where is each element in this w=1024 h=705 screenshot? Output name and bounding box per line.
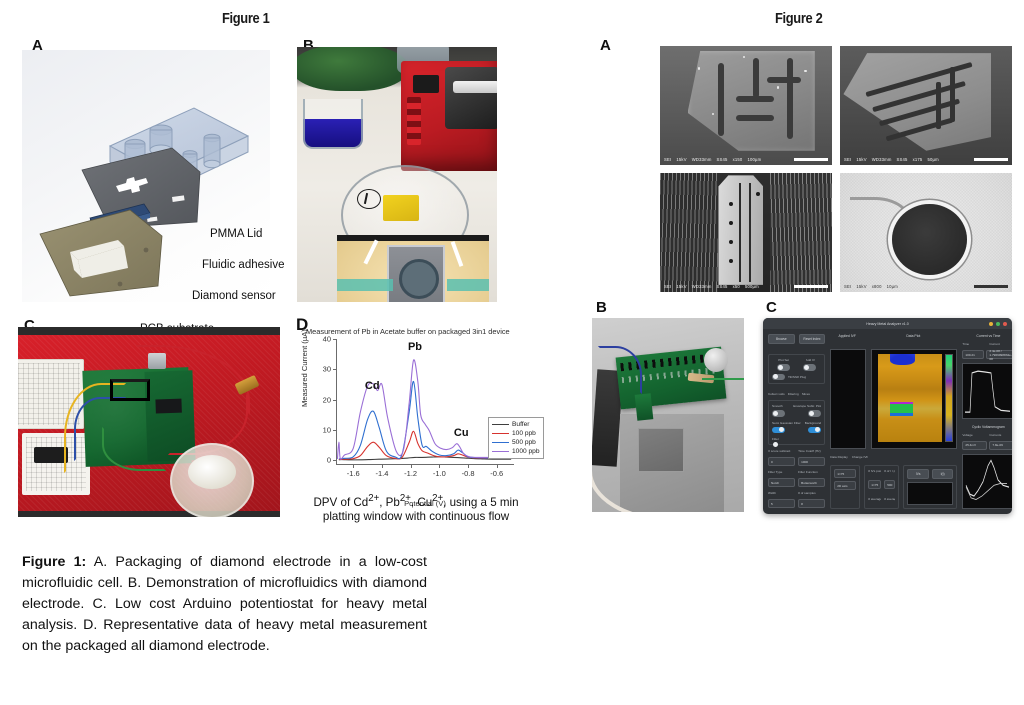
- field-samples[interactable]: 8: [798, 499, 825, 508]
- chart-plot-area: 010203040 -1.6-1.4-1.2-1.0-0.8-0.6 Poten…: [336, 339, 514, 465]
- readout-label-time: Time: [962, 342, 987, 346]
- heatmap-colorbar: [945, 354, 953, 442]
- axis-2d-button[interactable]: 2D axis: [834, 481, 856, 490]
- sem2-scale: 50µm: [927, 157, 938, 162]
- data-heatmap-plot[interactable]: [871, 349, 957, 449]
- fig2-panel-c-letter: C: [766, 300, 777, 315]
- sem2-trace: [936, 82, 941, 130]
- heatmap-blue-region: [890, 354, 916, 365]
- readout-voltage: 25.4mV: [962, 441, 987, 450]
- close-dot-icon[interactable]: [1003, 322, 1007, 326]
- chart-legend: Buffer100 ppb500 ppb1000 ppb: [488, 417, 544, 459]
- sem1-voltage: 15kV: [676, 157, 686, 162]
- toggle-label-smooth: Smooth: [772, 404, 783, 408]
- sem4-scale-bar: [974, 285, 1008, 288]
- readout-label-currents: Currents: [989, 433, 1012, 437]
- filter-label-row-1: Smooth Envelope Subtr. Plot: [772, 404, 821, 408]
- filtertype-field-row: Notch Butterworth: [768, 478, 825, 487]
- chart-xtick-label: -1.4: [375, 469, 388, 478]
- field-label-x-score: X score subtract: [768, 449, 795, 453]
- fig1-panel-b-microfluidics-photo: [297, 47, 497, 302]
- toggle-add-iv[interactable]: [803, 364, 816, 371]
- toggle-labels-row: Plot Set Add IV: [772, 358, 821, 362]
- syringe-pump: [401, 61, 497, 171]
- field-width[interactable]: 5: [768, 499, 795, 508]
- chart-peak-label: Cu: [454, 427, 469, 439]
- sem3-via: [729, 240, 733, 244]
- field-label-time-cutoff: Time Cutoff (Hz): [798, 449, 825, 453]
- toggle-smooth[interactable]: [772, 410, 785, 417]
- heatmap-green-region: [890, 402, 913, 416]
- sem1-info-bar: SEI 15kV WD33mm SS45 x150 100µm: [660, 154, 832, 165]
- width-field-row: 5 8: [768, 499, 825, 508]
- toggle-label-filter: Filter: [772, 437, 821, 441]
- fig2-panel-c-software-screenshot: Heavy Metal Analyzer v1.0 Browse Reset I…: [763, 318, 1012, 514]
- sem3-fiber-texture-left: [660, 173, 718, 292]
- filter-toggle-group: Smooth Envelope Subtr. Plot Semi Gaussia…: [768, 400, 825, 445]
- sem1-scale-bar: [794, 158, 828, 161]
- numeric-fields-group: # IVs points # of I / point 1=75 500 # a…: [864, 465, 899, 509]
- sem2-voltage: 15kV: [856, 157, 866, 162]
- adjustment-knob: [704, 348, 728, 372]
- chart-title: Measurement of Pb in Acetate buffer on p…: [306, 327, 510, 336]
- chart-ytick-label: 20: [323, 395, 331, 404]
- caption-bold-prefix: Figure 1:: [22, 554, 86, 570]
- chart-ytick-label: 40: [323, 335, 331, 344]
- current-vs-time-title: Current vs Time: [962, 334, 1012, 338]
- sem3-wd: WD33mm: [692, 284, 712, 289]
- inset-fluidic-channel: [399, 259, 439, 299]
- sem3-via: [729, 202, 733, 206]
- cyclic-trace: [963, 455, 1012, 509]
- sem2-trace: [950, 67, 955, 122]
- toggle-label-tilt-shift: Tilt/Shift Plug: [788, 375, 806, 379]
- label-diamond-sensor: Diamond sensor: [192, 290, 276, 302]
- sem2-detector: SEI: [844, 157, 851, 162]
- chart-ytick-label: 30: [323, 365, 331, 374]
- toggle-envelope-subtract[interactable]: [808, 410, 821, 417]
- sem4-mag: x800: [872, 284, 882, 289]
- sem1-trace: [767, 77, 801, 83]
- blue-wire-loop: [598, 346, 642, 394]
- sem1-trace: [753, 58, 759, 98]
- numeric-field-iv-points[interactable]: 1=75: [868, 480, 881, 489]
- chart-xtick-label: -0.6: [490, 469, 503, 478]
- pcb-substrate-shape: [40, 210, 162, 296]
- chart-peak-label: Cd: [365, 380, 380, 392]
- select-filter-function[interactable]: Butterworth: [798, 478, 825, 487]
- cyclic-readout-labels: Voltage Currents: [962, 433, 1012, 437]
- app-window-title: Heavy Metal Analyzer v1.0: [866, 322, 909, 326]
- toggle-label-semi-gaussian: Semi Gaussian Filter: [772, 421, 801, 425]
- toggle-label-background: Background: [805, 421, 822, 425]
- chart-legend-label: 100 ppb: [512, 430, 536, 437]
- current-readout-values: 100.21 2.4e-08 / 1.7969998832e-08: [962, 350, 1012, 359]
- sem1-trace: [787, 58, 793, 139]
- sem1-spot: SS45: [717, 157, 728, 162]
- chart-legend-row: 500 ppb: [492, 438, 540, 447]
- chart-legend-row: 100 ppb: [492, 429, 540, 438]
- cutoff-field-row: 0 1000: [768, 457, 825, 466]
- pump-display: [413, 75, 439, 93]
- toggle-background[interactable]: [808, 427, 821, 434]
- inset-closeup-photo: [337, 235, 489, 302]
- filter-toggle-row-1: [772, 410, 821, 417]
- chart-xtick-mark: [353, 465, 354, 468]
- bottom-controls-row: 1=75 2D axis # IVs points # of I / point…: [830, 465, 957, 509]
- sem3-channel: [749, 183, 751, 283]
- chart-xtick-mark: [468, 465, 469, 468]
- inset-tape-right: [447, 279, 489, 291]
- axis-mode-group: 1=75 2D axis: [830, 465, 860, 509]
- white-cable: [592, 458, 692, 512]
- numeric-field-i-per-point[interactable]: 500: [884, 480, 895, 489]
- chart-ytick-label: 10: [323, 426, 331, 435]
- sem-image-4: SEI 15kV x800 10µm: [840, 173, 1012, 292]
- tab-content-plot[interactable]: [907, 482, 953, 505]
- filter-label-row-2: Semi Gaussian Filter Background: [772, 421, 821, 425]
- readout-time: 100.21: [962, 350, 984, 359]
- chart-legend-row: Buffer: [492, 420, 540, 429]
- tab-ivs[interactable]: IVs: [907, 469, 929, 479]
- sem4-scale: 10µm: [887, 284, 898, 289]
- sem1-trace: [736, 115, 774, 121]
- top-button-row: Browse Reset Index: [768, 334, 825, 344]
- heatmap-image: [878, 354, 942, 442]
- sem3-info-bar: SEI 15kV WD33mm SS45 x50 500µm: [660, 281, 832, 292]
- green-ground-wire: [702, 378, 744, 390]
- maximize-dot-icon[interactable]: [996, 322, 1000, 326]
- applied-plot-title: Applied IVF: [830, 334, 864, 345]
- sem3-fiber-texture-right: [770, 173, 832, 292]
- reset-index-button[interactable]: Reset Index: [799, 334, 826, 344]
- sem2-electrode-chip: [843, 53, 991, 151]
- fig1-panel-c-potentiostat-photo: [18, 327, 280, 517]
- figure-2-title: Figure 2: [775, 10, 822, 27]
- cyclic-readout-values: 25.4mV 7.8e-09: [962, 441, 1012, 450]
- tab-it[interactable]: I(t): [932, 469, 954, 479]
- tabs-group: IVs I(t): [903, 465, 957, 509]
- pump-keypad: [407, 97, 421, 145]
- filter-toggle-row-2: [772, 427, 821, 434]
- inset-tape-left: [337, 279, 393, 291]
- tab-collect-volts[interactable]: Collect volts: [768, 392, 785, 396]
- sem4-detector: SEI: [844, 284, 851, 289]
- syringe-barrel: [453, 81, 497, 93]
- sem3-detector: SEI: [664, 284, 671, 289]
- fig2-panel-b-letter: B: [596, 300, 607, 315]
- chart-legend-swatch: [492, 442, 509, 443]
- chart-legend-row: 1000 ppb: [492, 447, 540, 456]
- sem1-trace: [736, 96, 774, 102]
- minimize-dot-icon[interactable]: [989, 322, 993, 326]
- sem3-voltage: 15kV: [676, 284, 686, 289]
- cyclic-voltammogram-title: Cyclic Voltammogram: [962, 425, 1012, 429]
- chart-legend-swatch: [492, 451, 509, 452]
- chart-xtick-mark: [439, 465, 440, 468]
- green-container-lid: [297, 47, 409, 91]
- tab-slices[interactable]: Slices: [802, 392, 810, 396]
- sem4-voltage: 15kV: [856, 284, 866, 289]
- plot-toggle-group: Plot Set Add IV Tilt/Shift Plug: [768, 354, 825, 384]
- browse-button[interactable]: Browse: [768, 334, 795, 344]
- field-label-samples: # of samples: [798, 491, 825, 495]
- sem4-info-bar: SEI 15kV x800 10µm: [840, 281, 1012, 292]
- sem-image-1: SEI 15kV WD33mm SS45 x150 100µm: [660, 46, 832, 165]
- sem2-mag: x175: [913, 157, 923, 162]
- beaker-with-blue-dye: [303, 99, 363, 149]
- chart-xtick-label: -1.2: [404, 469, 417, 478]
- data-display-label: Data Display: [830, 455, 848, 459]
- numeric-label-iv-points: # IVs points: [868, 469, 881, 477]
- fig2-panel-a-letter: A: [600, 38, 611, 53]
- figure-caption: Figure 1: A. Packaging of diamond electr…: [22, 552, 427, 657]
- numeric-label-avg-ixv: # average for IxV: [884, 497, 895, 505]
- app-title-bar: Heavy Metal Analyzer v1.0: [763, 318, 1012, 329]
- sem3-spot: SS45: [717, 284, 728, 289]
- fig1-panel-d-dpv-chart: Measurement of Pb in Acetate buffer on p…: [292, 315, 540, 537]
- field-x-score[interactable]: 0: [768, 457, 795, 466]
- axis-select[interactable]: 1=75: [834, 469, 856, 478]
- label-pmma-lid: PMMA Lid: [210, 228, 262, 240]
- sem3-mag: x50: [733, 284, 740, 289]
- sem1-trace: [718, 63, 724, 137]
- current-vs-time-plot[interactable]: [962, 363, 1012, 419]
- label-fluidic-adhesive: Fluidic adhesive: [202, 259, 284, 271]
- change-ivf-label: Change IVF: [852, 455, 869, 459]
- sem1-wd: WD33mm: [692, 157, 712, 162]
- sem2-spot: SS45: [897, 157, 908, 162]
- electrochemical-cell: [170, 443, 254, 517]
- current-readout-labels: Time Current: [962, 342, 1012, 346]
- chart-ylabel: Measured Current (µA): [300, 329, 309, 407]
- readout-label-voltage: Voltage: [962, 433, 987, 437]
- sem2-scale-bar: [974, 158, 1008, 161]
- fig2-panel-a-sem-grid: SEI 15kV WD33mm SS45 x150 100µm SEI 15kV…: [660, 46, 1012, 292]
- chart-xtick-label: -1.6: [347, 469, 360, 478]
- sem2-wd: WD33mm: [872, 157, 892, 162]
- chart-xtick-label: -0.8: [462, 469, 475, 478]
- toggle-switch-row: [772, 364, 821, 371]
- figure-1-title: Figure 1: [222, 10, 269, 27]
- cutoff-label-row: X score subtract Time Cutoff (Hz): [768, 449, 825, 453]
- fig2-panel-b-probe-photo: [592, 318, 744, 512]
- tilt-shift-row: Tilt/Shift Plug: [772, 374, 821, 381]
- field-label-filter-function: Filter Function: [798, 470, 825, 474]
- sem1-scale: 100µm: [747, 157, 761, 162]
- chart-legend-label: 500 ppb: [512, 439, 536, 446]
- tab-filtering[interactable]: Filtering: [788, 392, 799, 396]
- chart-ytick-label: 0: [327, 456, 331, 465]
- sem3-via: [729, 221, 733, 225]
- applied-ivf-plot[interactable]: [830, 349, 866, 449]
- cyclic-voltammogram-plot[interactable]: [962, 454, 1012, 510]
- sem1-particle: [743, 56, 746, 59]
- chart-peak-label: Pb: [408, 341, 422, 353]
- sem2-info-bar: SEI 15kV WD33mm SS45 x175 50µm: [840, 154, 1012, 165]
- chart-xtick-label: -1.0: [433, 469, 446, 478]
- sem-image-3: SEI 15kV WD33mm SS45 x50 500µm: [660, 173, 832, 292]
- ic-chip: [34, 447, 68, 463]
- data-display-row: Data Display Change IVF: [830, 453, 957, 461]
- right-plot-column: Current vs Time Time Current 100.21 2.4e…: [962, 334, 1012, 509]
- filtertype-label-row: Filter Type Filter Function: [768, 470, 825, 474]
- subcaption-line-1: DPV of Cd2+, Pb2+, Cu2+, using a 5 min: [313, 496, 518, 509]
- toggle-semi-gaussian[interactable]: [772, 427, 785, 434]
- window-controls: [989, 322, 1007, 326]
- sem3-channel: [739, 183, 741, 283]
- chart-xtick-mark: [411, 465, 412, 468]
- app-body: Browse Reset Index Plot Set Add IV Tilt/…: [763, 329, 1012, 514]
- sem3-scale-bar: [794, 285, 828, 288]
- chart-xtick-mark: [497, 465, 498, 468]
- sem3-scale: 500µm: [745, 284, 759, 289]
- fig1-panel-a-cad-diagram: PMMA Lid Fluidic adhesive Diamond sensor…: [22, 50, 270, 302]
- subcaption-line-2: platting window with continuous flow: [323, 510, 509, 523]
- chart-series-line: [337, 360, 511, 459]
- current-time-trace: [963, 364, 1012, 418]
- data-plot-title: Data Plot: [869, 334, 957, 345]
- panel-d-subcaption: DPV of Cd2+, Pb2+, Cu2+, using a 5 min p…: [294, 493, 538, 525]
- numeric-label-avg-ivs: # average for IVs: [868, 497, 881, 505]
- control-column: Browse Reset Index Plot Set Add IV Tilt/…: [768, 334, 825, 509]
- plot-column: Applied IVF Data Plot Data Display Chang…: [830, 334, 957, 509]
- readout-label-current: Current: [989, 342, 1012, 346]
- toggle-label-envelope: Envelope Subtr. Plot: [793, 404, 821, 408]
- chart-series-line: [339, 431, 511, 459]
- packaged-device-chip: [383, 195, 419, 221]
- sem1-detector: SEI: [664, 157, 671, 162]
- chart-xtick-mark: [382, 465, 383, 468]
- chart-legend-swatch: [492, 433, 509, 434]
- tab-row: IVs I(t): [907, 469, 953, 479]
- chart-legend-label: 1000 ppb: [512, 448, 540, 455]
- plot-titles-row: Applied IVF Data Plot: [830, 334, 957, 345]
- handwritten-annotation: [357, 189, 381, 209]
- toggle-label-add-iv: Add IV: [806, 358, 815, 362]
- chart-legend-swatch: [492, 424, 509, 425]
- readout-currents: 7.8e-09: [989, 441, 1012, 450]
- sem-image-2: SEI 15kV WD33mm SS45 x175 50µm: [840, 46, 1012, 165]
- toggle-label-plot-set: Plot Set: [778, 358, 789, 362]
- field-label-filter-type: Filter Type: [768, 470, 795, 474]
- field-label-width: Width: [768, 491, 795, 495]
- sem3-via: [729, 259, 733, 263]
- black-jumper: [110, 379, 150, 401]
- sem4-disc-electrode: [892, 204, 968, 275]
- pump-carriage: [445, 67, 497, 129]
- group-tabs-row: Collect volts Filtering Slices: [768, 392, 825, 396]
- plots-row: [830, 349, 957, 449]
- cell-cap: [188, 455, 236, 489]
- toggle-tilt-shift[interactable]: [772, 374, 785, 381]
- inset-device: [387, 245, 445, 302]
- numeric-label-i-per-point: # of I / point: [884, 469, 895, 477]
- toggle-plot-set[interactable]: [777, 364, 790, 371]
- readout-current: 2.4e-08 / 1.7969998832e-08: [986, 350, 1012, 359]
- probe-card-tab: [635, 393, 654, 421]
- sem1-mag: x150: [733, 157, 743, 162]
- width-label-row: Width # of samples: [768, 491, 825, 495]
- field-time-cutoff[interactable]: 1000: [798, 457, 825, 466]
- chart-legend-label: Buffer: [512, 421, 529, 428]
- select-filter-type[interactable]: Notch: [768, 478, 795, 487]
